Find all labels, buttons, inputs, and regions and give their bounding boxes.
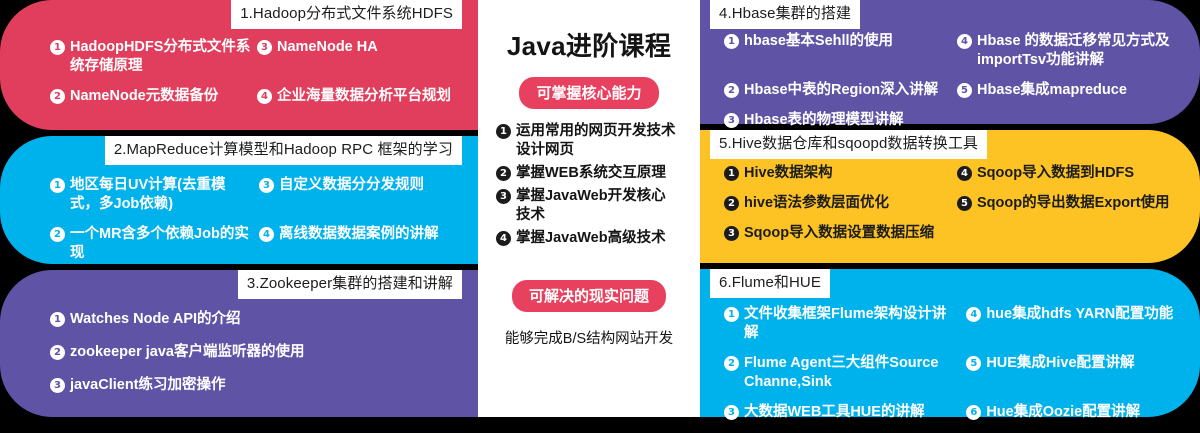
problem-text: 能够完成B/S结构网站开发	[505, 327, 673, 348]
list-item[interactable]: 5 Hbase集成mapreduce	[957, 81, 1190, 100]
panel-hive: 5.Hive数据仓库和sqoopd数据转换工具 1 Hive数据架构 4 Sqo…	[700, 130, 1200, 263]
list-item[interactable]: 2 hive语法参数层面优化	[724, 194, 957, 213]
list-item[interactable]: 4 hue集成hdfs YARN配置功能	[966, 305, 1190, 343]
panel-hdfs-items: 1 HadoopHDFS分布式文件系统存储原理 3 NameNode HA 2 …	[50, 38, 464, 117]
list-item[interactable]: 3 Sqoop导入数据设置数据压缩	[724, 224, 957, 243]
badge-core-ability: 可掌握核心能力	[519, 77, 658, 109]
number-badge-5: 5	[966, 356, 981, 371]
list-item-label: 企业海量数据分析平台规划	[277, 87, 451, 106]
list-item-label: NameNode元数据备份	[70, 87, 218, 106]
panel-flume-hue-items: 1 文件收集框架Flume架构设计讲解 4 hue集成hdfs YARN配置功能…	[724, 305, 1190, 433]
panel-zookeeper-items: 1 Watches Node API的介绍 2 zookeeper java客户…	[50, 310, 464, 406]
number-badge-4: 4	[257, 89, 272, 104]
list-item[interactable]: 4 Sqoop导入数据到HDFS	[957, 164, 1190, 183]
list-item-label: hbase基本Sehll的使用	[744, 32, 893, 51]
list-item[interactable]: 1 运用常用的网页开发技术设计网页	[496, 122, 682, 160]
panel-hive-title: 5.Hive数据仓库和sqoopd数据转换工具	[710, 130, 987, 159]
list-item[interactable]: 5 Sqoop的导出数据Export使用	[957, 194, 1190, 213]
list-item-label: Hbase表的物理模型讲解	[744, 111, 904, 130]
list-item-label: 大数据WEB工具HUE的讲解	[744, 403, 924, 422]
panel-mapreduce-title: 2.MapReduce计算模型和Hadoop RPC 框架的学习	[105, 136, 462, 165]
panel-flume-hue-title: 6.Flume和HUE	[710, 269, 830, 298]
list-item[interactable]: 4 Hbase 的数据迁移常见方式及importTsv功能讲解	[957, 32, 1190, 70]
list-item-label: 自定义数据分分发规则	[279, 176, 424, 195]
number-badge-1: 1	[50, 178, 65, 193]
list-item-label: Flume Agent三大组件Source Channe,Sink	[744, 354, 960, 392]
panel-mapreduce: 2.MapReduce计算模型和Hadoop RPC 框架的学习 1 地区每日U…	[0, 136, 478, 264]
number-badge-4: 4	[496, 231, 511, 246]
number-badge-5: 5	[957, 83, 972, 98]
middle-content: Java进阶课程 可掌握核心能力 1 运用常用的网页开发技术设计网页 2 掌握W…	[478, 0, 700, 417]
list-item-label: HUE集成Hive配置讲解	[986, 354, 1134, 373]
list-item-label: hue集成hdfs YARN配置功能	[986, 305, 1173, 324]
list-item[interactable]: 2 掌握WEB系统交互原理	[496, 164, 682, 183]
number-badge-4: 4	[957, 166, 972, 181]
list-item[interactable]: 3 Hbase表的物理模型讲解	[724, 111, 957, 130]
panel-zookeeper: 3.Zookeeper集群的搭建和讲解 1 Watches Node API的介…	[0, 270, 478, 417]
list-item[interactable]: 4 掌握JavaWeb高级技术	[496, 229, 682, 248]
number-badge-3: 3	[257, 40, 272, 55]
list-item[interactable]: 4 离线数据数据案例的讲解	[259, 225, 468, 263]
ability-list: 1 运用常用的网页开发技术设计网页 2 掌握WEB系统交互原理 3 掌握Java…	[496, 122, 682, 252]
list-item[interactable]: 4 企业海量数据分析平台规划	[257, 87, 464, 106]
number-badge-5: 5	[957, 196, 972, 211]
list-item[interactable]: 1 HadoopHDFS分布式文件系统存储原理	[50, 38, 257, 76]
number-badge-4: 4	[957, 34, 972, 49]
number-badge-3: 3	[50, 378, 65, 393]
badge-real-problem: 可解决的现实问题	[512, 280, 666, 312]
number-badge-2: 2	[724, 356, 739, 371]
number-badge-3: 3	[724, 226, 739, 241]
panel-hbase-title: 4.Hbase集群的搭建	[710, 0, 860, 29]
number-badge-1: 1	[724, 166, 739, 181]
number-badge-2: 2	[50, 227, 65, 242]
number-badge-3: 3	[259, 178, 274, 193]
list-item-label: NameNode HA	[277, 38, 378, 57]
number-badge-2: 2	[50, 345, 65, 360]
panel-hive-items: 1 Hive数据架构 4 Sqoop导入数据到HDFS 2 hive语法参数层面…	[724, 164, 1190, 254]
list-item-label: 掌握WEB系统交互原理	[516, 164, 666, 183]
list-item[interactable]: 5 HUE集成Hive配置讲解	[966, 354, 1190, 392]
list-item-label: 掌握JavaWeb开发核心技术	[516, 187, 676, 225]
number-badge-1: 1	[724, 34, 739, 49]
list-item[interactable]: 2 zookeeper java客户端监听器的使用	[50, 343, 464, 362]
list-item[interactable]: 3 NameNode HA	[257, 38, 464, 76]
panel-hdfs: 1.Hadoop分布式文件系统HDFS 1 HadoopHDFS分布式文件系统存…	[0, 0, 478, 130]
list-item-label: Sqoop的导出数据Export使用	[977, 194, 1170, 213]
list-item-label: javaClient练习加密操作	[70, 376, 226, 395]
number-badge-3: 3	[724, 113, 739, 128]
number-badge-2: 2	[496, 166, 511, 181]
list-item[interactable]: 1 Watches Node API的介绍	[50, 310, 464, 329]
list-item-label: 一个MR含多个依赖Job的实现	[70, 225, 253, 263]
list-item-label: Hbase中表的Region深入讲解	[744, 81, 938, 100]
list-item-label: Sqoop导入数据到HDFS	[977, 164, 1134, 183]
number-badge-2: 2	[724, 196, 739, 211]
list-item-label: Hbase集成mapreduce	[977, 81, 1127, 100]
list-item-label: 掌握JavaWeb高级技术	[516, 229, 666, 248]
list-item[interactable]: 1 文件收集框架Flume架构设计讲解	[724, 305, 966, 343]
left-column: 1.Hadoop分布式文件系统HDFS 1 HadoopHDFS分布式文件系统存…	[0, 0, 478, 417]
list-item[interactable]: 2 NameNode元数据备份	[50, 87, 257, 106]
panel-hbase-items: 1 hbase基本Sehll的使用 4 Hbase 的数据迁移常见方式及impo…	[724, 32, 1190, 141]
list-item-label: 离线数据数据案例的讲解	[279, 225, 439, 244]
list-item[interactable]: 1 Hive数据架构	[724, 164, 957, 183]
list-item-label: Hbase 的数据迁移常见方式及importTsv功能讲解	[977, 32, 1184, 70]
number-badge-3: 3	[496, 189, 511, 204]
panel-mapreduce-items: 1 地区每日UV计算(去重模式，多Job依赖) 3 自定义数据分分发规则 2 一…	[50, 176, 468, 274]
panel-hdfs-title: 1.Hadoop分布式文件系统HDFS	[231, 0, 462, 29]
list-item-label: 运用常用的网页开发技术设计网页	[516, 122, 676, 160]
list-item[interactable]: 3 大数据WEB工具HUE的讲解	[724, 403, 966, 422]
list-item-label: HadoopHDFS分布式文件系统存储原理	[70, 38, 251, 76]
list-item-label: Watches Node API的介绍	[70, 310, 241, 329]
panel-flume-hue: 6.Flume和HUE 1 文件收集框架Flume架构设计讲解 4 hue集成h…	[700, 269, 1200, 417]
number-badge-4: 4	[966, 307, 981, 322]
number-badge-1: 1	[724, 307, 739, 322]
number-badge-1: 1	[50, 312, 65, 327]
list-item[interactable]: 3 自定义数据分分发规则	[259, 176, 468, 214]
list-item-label: 文件收集框架Flume架构设计讲解	[744, 305, 960, 343]
middle-column: Java进阶课程 可掌握核心能力 1 运用常用的网页开发技术设计网页 2 掌握W…	[478, 0, 700, 417]
right-column: 4.Hbase集群的搭建 1 hbase基本Sehll的使用 4 Hbase 的…	[700, 0, 1200, 417]
list-item-label: zookeeper java客户端监听器的使用	[70, 343, 304, 362]
panel-zookeeper-title: 3.Zookeeper集群的搭建和讲解	[238, 270, 462, 299]
list-item-label: Sqoop导入数据设置数据压缩	[744, 224, 934, 243]
list-item[interactable]: 2 Flume Agent三大组件Source Channe,Sink	[724, 354, 966, 392]
list-item-label: 地区每日UV计算(去重模式，多Job依赖)	[70, 176, 253, 214]
number-badge-4: 4	[259, 227, 274, 242]
number-badge-1: 1	[50, 40, 65, 55]
list-item[interactable]: 6 Hue集成Oozie配置讲解	[966, 403, 1190, 422]
list-item[interactable]: 2 一个MR含多个依赖Job的实现	[50, 225, 259, 263]
number-badge-2: 2	[724, 83, 739, 98]
list-item[interactable]: 1 地区每日UV计算(去重模式，多Job依赖)	[50, 176, 259, 214]
page-title: Java进阶课程	[507, 26, 671, 63]
number-badge-6: 6	[966, 405, 981, 420]
list-item-label: Hive数据架构	[744, 164, 833, 183]
list-item-label: Hue集成Oozie配置讲解	[986, 403, 1140, 422]
panel-hbase: 4.Hbase集群的搭建 1 hbase基本Sehll的使用 4 Hbase 的…	[700, 0, 1200, 124]
number-badge-1: 1	[496, 124, 511, 139]
course-outline-board: 1.Hadoop分布式文件系统HDFS 1 HadoopHDFS分布式文件系统存…	[0, 0, 1200, 417]
number-badge-2: 2	[50, 89, 65, 104]
list-item[interactable]: 2 Hbase中表的Region深入讲解	[724, 81, 957, 100]
list-item-label: hive语法参数层面优化	[744, 194, 889, 213]
list-item[interactable]: 3 javaClient练习加密操作	[50, 376, 464, 395]
list-item[interactable]: 3 掌握JavaWeb开发核心技术	[496, 187, 682, 225]
number-badge-3: 3	[724, 405, 739, 420]
list-item[interactable]: 1 hbase基本Sehll的使用	[724, 32, 957, 70]
